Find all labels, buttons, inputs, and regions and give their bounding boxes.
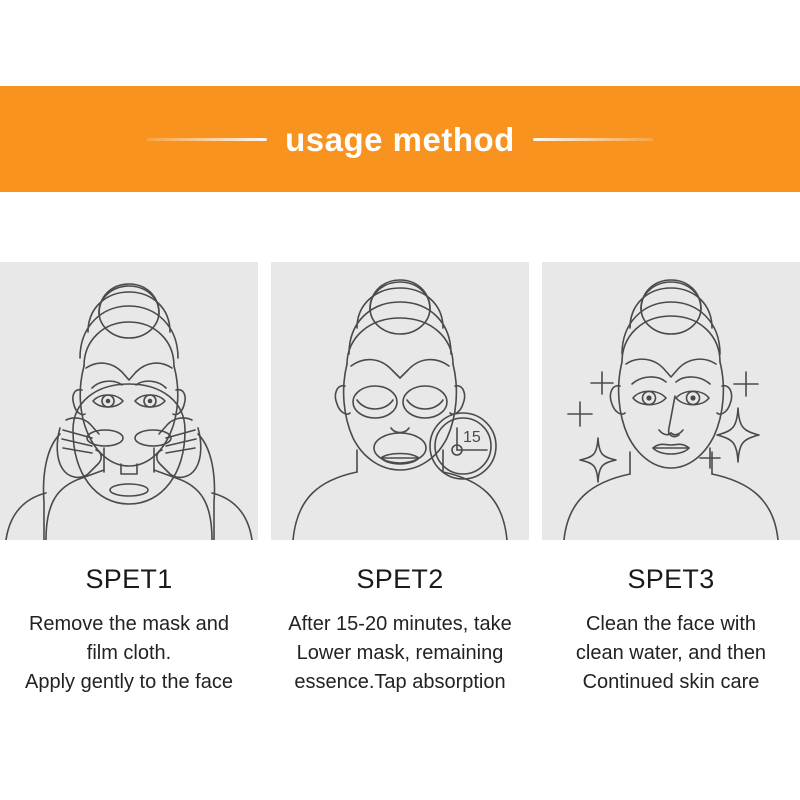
- steps-row: SPET1 Remove the mask and film cloth. Ap…: [0, 262, 800, 697]
- step-2-line-2: Lower mask, remaining: [269, 639, 531, 668]
- step-3-description: Clean the face with clean water, and the…: [540, 610, 800, 697]
- step-3-illustration: [542, 262, 800, 540]
- step-3-line-2: clean water, and then: [540, 639, 800, 668]
- step-card-2: 15 SPET2 After 15-20 minutes, take Lower…: [271, 262, 529, 697]
- decorative-line-right-icon: [533, 138, 653, 141]
- step-2-title: SPET2: [356, 566, 443, 593]
- step-2-illustration: 15: [271, 262, 529, 540]
- step-2-line-1: After 15-20 minutes, take: [269, 610, 531, 639]
- step-3-line-3: Continued skin care: [540, 668, 800, 697]
- step-3-line-1: Clean the face with: [540, 610, 800, 639]
- decorative-line-left-icon: [147, 138, 267, 141]
- step-1-description: Remove the mask and film cloth. Apply ge…: [0, 610, 260, 697]
- step-2-description: After 15-20 minutes, take Lower mask, re…: [269, 610, 531, 697]
- woman-wearing-mask-with-timer-icon: 15: [271, 262, 529, 540]
- step-1-line-3: Apply gently to the face: [0, 668, 260, 697]
- step-card-1: SPET1 Remove the mask and film cloth. Ap…: [0, 262, 258, 697]
- step-1-line-2: film cloth.: [0, 639, 260, 668]
- step-1-title: SPET1: [85, 566, 172, 593]
- woman-glowing-face-icon: [542, 262, 800, 540]
- step-3-title: SPET3: [627, 566, 714, 593]
- page-title: usage method: [285, 123, 515, 156]
- step-1-line-1: Remove the mask and: [0, 610, 260, 639]
- usage-method-banner: usage method: [0, 86, 800, 192]
- step-card-3: SPET3 Clean the face with clean water, a…: [542, 262, 800, 697]
- step-1-illustration: [0, 262, 258, 540]
- step-2-line-3: essence.Tap absorption: [269, 668, 531, 697]
- timer-value: 15: [463, 429, 481, 446]
- woman-removing-mask-icon: [0, 262, 258, 540]
- banner-content: usage method: [0, 123, 800, 156]
